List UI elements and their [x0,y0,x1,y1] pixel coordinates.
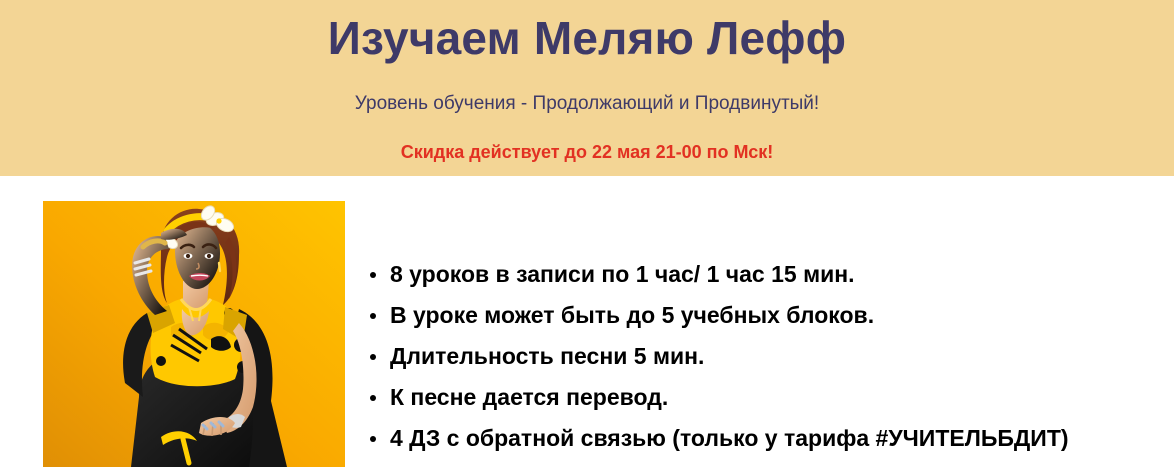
list-item: В уроке может быть до 5 учебных блоков. [368,295,1158,336]
content-area: 8 уроков в записи по 1 час/ 1 час 15 мин… [0,176,1174,467]
list-item-label: Длительность песни 5 мин. [390,343,704,369]
bullet-dot-icon [370,436,376,442]
bullet-dot-icon [370,354,376,360]
page-subtitle: Уровень обучения - Продолжающий и Продви… [0,92,1174,117]
dancer-photo-illustration [43,201,345,467]
bullet-dot-icon [370,272,376,278]
list-item-label: К песне дается перевод. [390,384,668,410]
feature-list: 8 уроков в записи по 1 час/ 1 час 15 мин… [368,254,1158,459]
promo-deadline-text: Скидка действует до 22 мая 21-00 по Мск! [0,141,1174,164]
promo-photo [43,201,345,467]
list-item: 4 ДЗ с обратной связью (только у тарифа … [368,418,1158,459]
list-item-label: 4 ДЗ с обратной связью (только у тарифа … [390,425,1069,451]
list-item: Длительность песни 5 мин. [368,336,1158,377]
list-item-label: 8 уроков в записи по 1 час/ 1 час 15 мин… [390,261,855,287]
list-item-label: В уроке может быть до 5 учебных блоков. [390,302,874,328]
bullet-dot-icon [370,395,376,401]
page-title: Изучаем Меляю Лефф [0,12,1174,65]
list-item: К песне дается перевод. [368,377,1158,418]
list-item: 8 уроков в записи по 1 час/ 1 час 15 мин… [368,254,1158,295]
promo-header-band: Изучаем Меляю Лефф Уровень обучения - Пр… [0,0,1174,176]
bullet-dot-icon [370,313,376,319]
